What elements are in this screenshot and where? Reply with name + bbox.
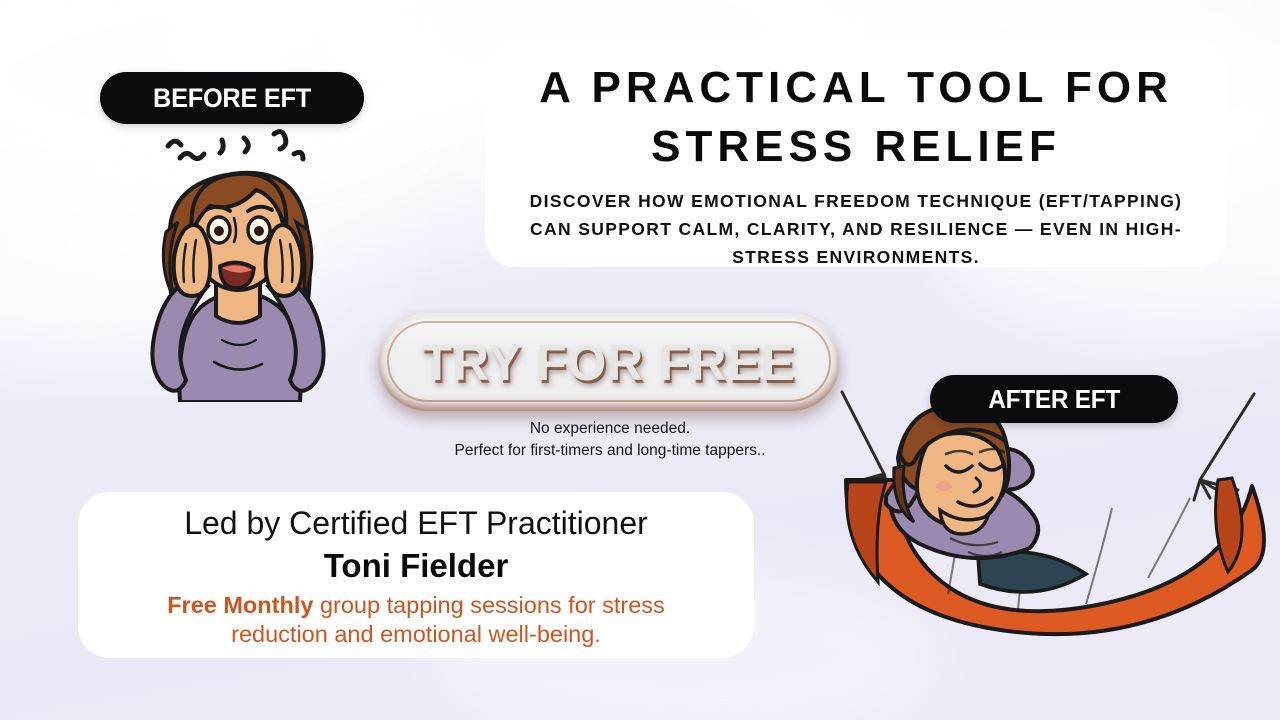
try-for-free-label: TRY FOR FREE [422, 333, 796, 392]
practitioner-name: Toni Fielder [324, 546, 509, 586]
page-title: A PRACTICAL TOOL FOR STRESS RELIEF [539, 58, 1173, 177]
badge-before-eft: BEFORE EFT [100, 72, 364, 124]
headline-card: A PRACTICAL TOOL FOR STRESS RELIEF DISCO… [485, 40, 1227, 267]
practitioner-lead: Led by Certified EFT Practitioner [184, 504, 648, 542]
practitioner-description: Free Monthly group tapping sessions for … [116, 591, 716, 648]
page-subtitle: DISCOVER HOW EMOTIONAL FREEDOM TECHNIQUE… [511, 187, 1201, 272]
relaxed-woman-hammock-illustration [828, 388, 1268, 648]
cta-container: TRY FOR FREE [378, 313, 840, 411]
try-for-free-button[interactable]: TRY FOR FREE [378, 313, 840, 411]
practitioner-card: Led by Certified EFT Practitioner Toni F… [78, 492, 754, 658]
poster-canvas: BEFORE EFT [0, 0, 1280, 720]
badge-before-eft-label: BEFORE EFT [153, 83, 311, 114]
cta-note: No experience needed. Perfect for first-… [380, 418, 840, 462]
stressed-woman-illustration [118, 126, 358, 402]
practitioner-description-highlight: Free Monthly [167, 592, 313, 618]
badge-after-eft: AFTER EFT [930, 375, 1178, 423]
badge-after-eft-label: AFTER EFT [988, 384, 1120, 415]
